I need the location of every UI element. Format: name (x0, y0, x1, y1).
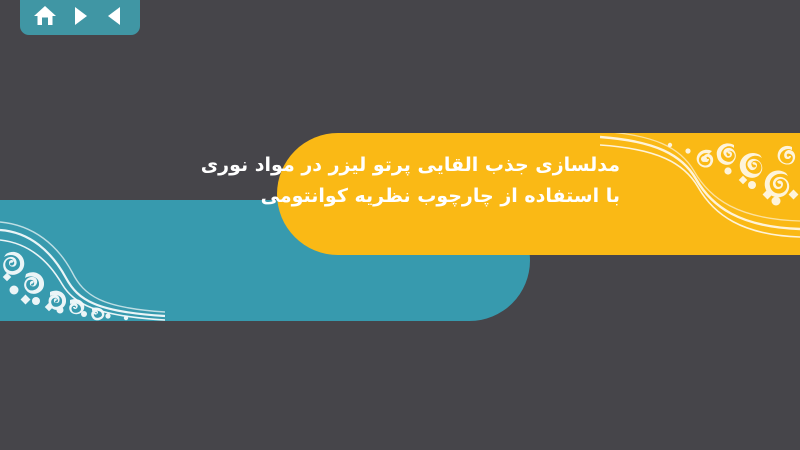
title-line-2: با استفاده از چارچوب نظریه کوانتومی (300, 181, 620, 212)
presentation-slide: مدلسازی جذب القایی پرتو لیزر در مواد نور… (0, 0, 800, 450)
home-icon (33, 5, 57, 27)
triangle-right-icon (71, 6, 89, 26)
next-slide-button[interactable] (67, 4, 93, 28)
triangle-left-icon (106, 6, 124, 26)
slide-title: مدلسازی جذب القایی پرتو لیزر در مواد نور… (300, 150, 620, 212)
previous-slide-button[interactable] (102, 4, 128, 28)
title-line-1: مدلسازی جذب القایی پرتو لیزر در مواد نور… (300, 150, 620, 181)
home-button[interactable] (32, 4, 58, 28)
arabesque-corner-ornament (0, 200, 165, 321)
slide-navigation-toolbar (20, 0, 140, 35)
arabesque-corner-ornament (600, 133, 800, 255)
